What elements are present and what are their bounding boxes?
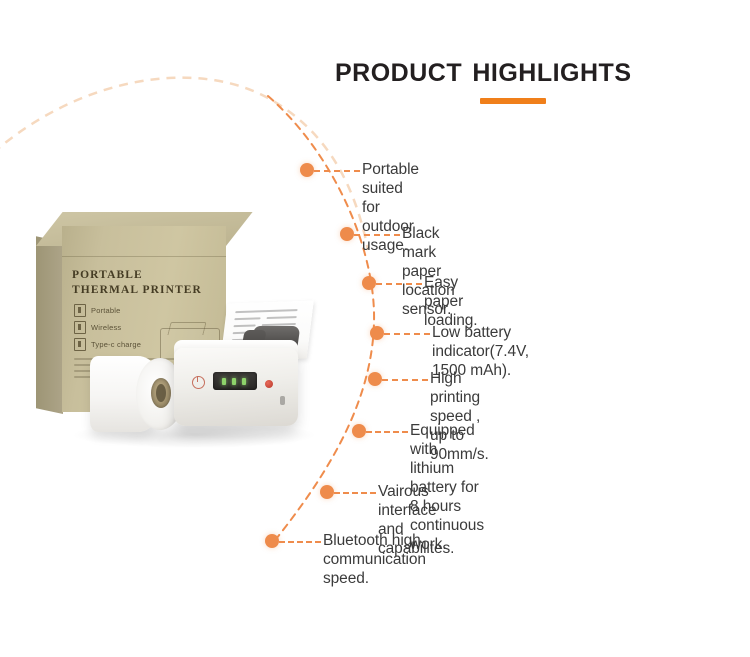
- bullet-dot: [362, 276, 376, 290]
- bullet-connector-dash: [376, 283, 422, 285]
- highlight-text: Easy paper loading.: [424, 273, 478, 330]
- highlight-text: Bluetooth high communication speed.: [323, 531, 426, 588]
- bullet-connector-dash: [334, 492, 376, 494]
- bullet-dot: [340, 227, 354, 241]
- bullet-dot: [265, 534, 279, 548]
- bullet-connector-dash: [314, 170, 360, 172]
- bullet-dot: [368, 372, 382, 386]
- bullet-connector-dash: [279, 541, 321, 543]
- bullet-connector-dash: [382, 379, 428, 381]
- highlights-list: Portable suited for outdoor usage. Black…: [0, 0, 750, 657]
- bullet-connector-dash: [354, 234, 400, 236]
- bullet-connector-dash: [366, 431, 408, 433]
- bullet-dot: [352, 424, 366, 438]
- bullet-dot: [300, 163, 314, 177]
- product-highlights-page: Product highlights PORTABLE THERMAL PRIN…: [0, 0, 750, 657]
- bullet-dot: [370, 326, 384, 340]
- bullet-dot: [320, 485, 334, 499]
- bullet-connector-dash: [384, 333, 430, 335]
